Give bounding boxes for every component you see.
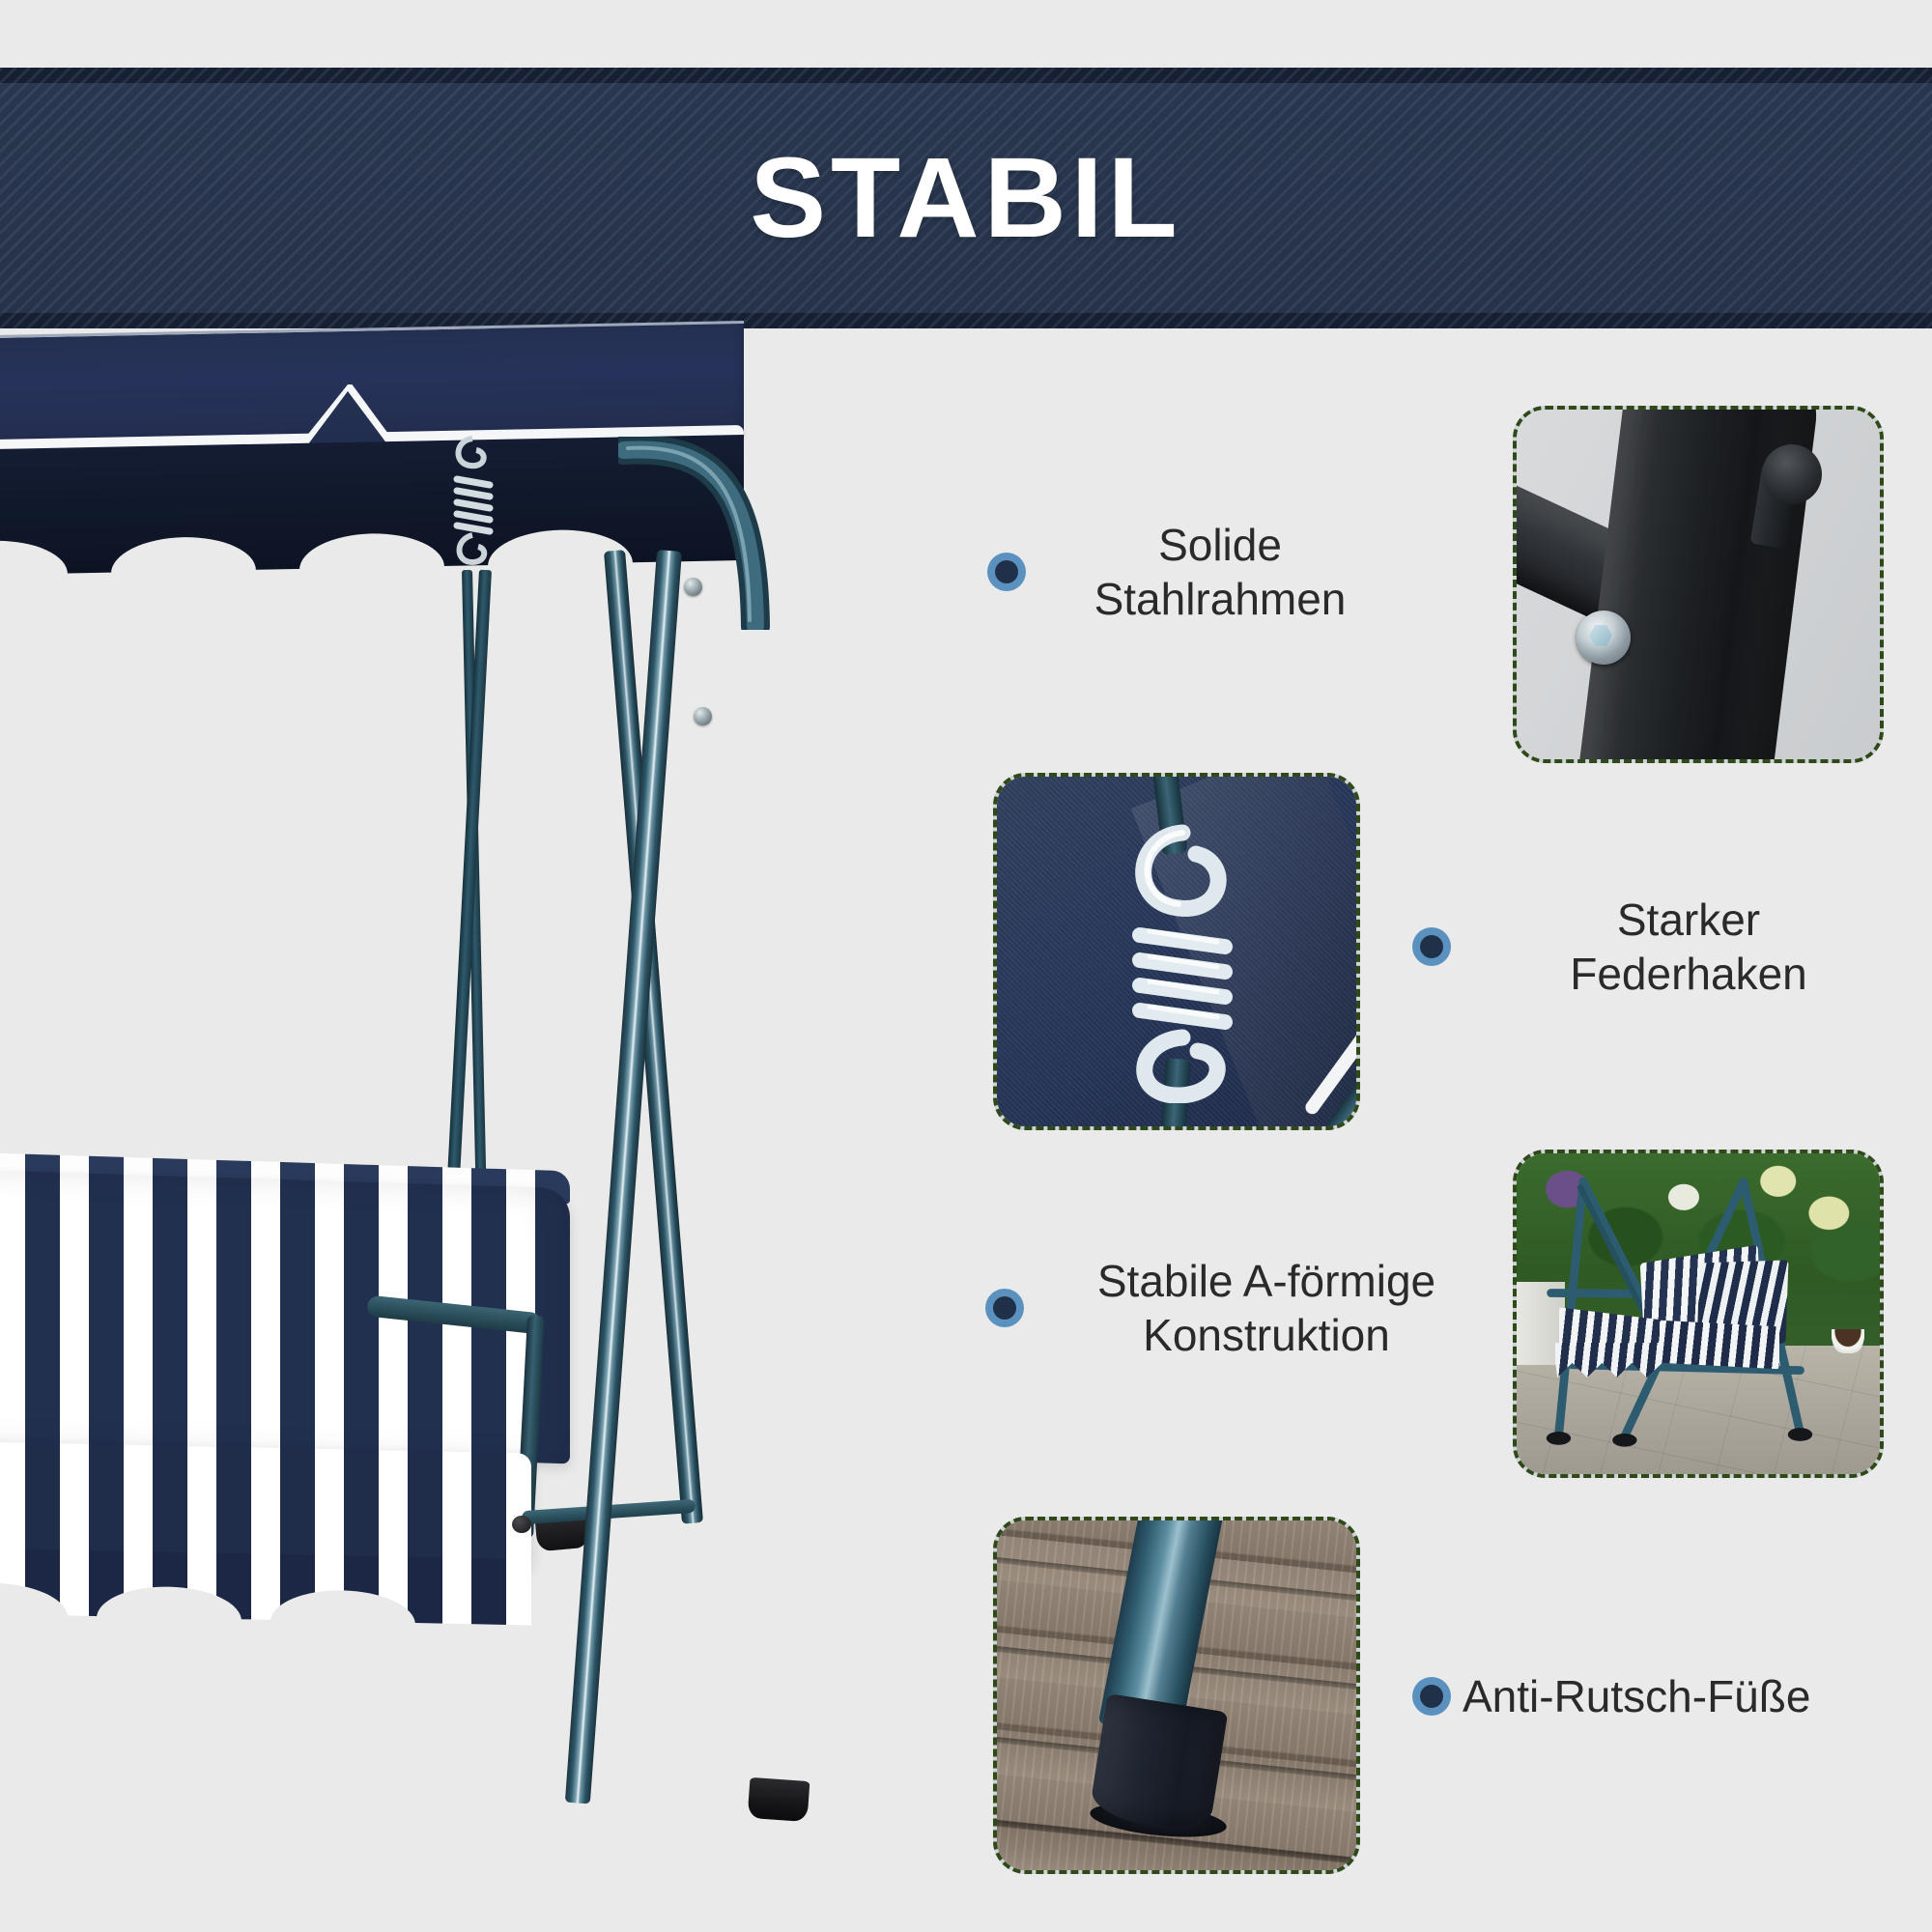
feature-anti-rutsch-fuesse: Anti-Rutsch-Füße: [1412, 1669, 1924, 1723]
frame-curved-arm: [618, 437, 773, 630]
feature-solide-stahlrahmen: Solide Stahlrahmen: [987, 518, 1393, 626]
joint-knob: [1762, 444, 1822, 504]
feature-label: Starker Federhaken: [1486, 893, 1891, 1001]
callout-steel-frame-photo: [1513, 406, 1884, 763]
feature-label: Anti-Rutsch-Füße: [1463, 1669, 1810, 1723]
seat-skirt: [0, 1548, 531, 1626]
front-leg-foot-cap: [748, 1777, 810, 1822]
bullet-point-icon: [985, 1289, 1024, 1327]
frame-bolt-upper: [684, 578, 702, 596]
bullet-point-icon: [987, 553, 1026, 591]
callout-spring-hook-photo: [993, 773, 1360, 1130]
bullet-point-icon: [1412, 1677, 1451, 1716]
product-illustration: [0, 328, 869, 1932]
header-banner: STABIL: [0, 68, 1932, 328]
scene-seat-right: [1660, 1321, 1779, 1369]
callout-swing-scene-photo: [1513, 1150, 1884, 1478]
brace-end-knob: [512, 1516, 531, 1533]
feature-label: Solide Stahlrahmen: [1061, 518, 1379, 626]
callout-anti-slip-foot-photo: [993, 1517, 1360, 1874]
feature-stabile-a-foermige-konstruktion: Stabile A-förmige Konstruktion: [985, 1254, 1507, 1362]
bullet-point-icon: [1412, 927, 1451, 966]
page-title: STABIL: [750, 141, 1181, 255]
frame-bolt-closeup: [1577, 611, 1631, 665]
coffee-cup: [1832, 1329, 1864, 1350]
feature-label: Stabile A-förmige Konstruktion: [1036, 1254, 1497, 1362]
spring-hook-closeup-icon: [1101, 823, 1265, 1103]
feature-starker-federhaken: Starker Federhaken: [1412, 893, 1895, 1001]
spring-hook-icon: [440, 435, 507, 570]
frame-bolt-lower: [694, 707, 712, 725]
